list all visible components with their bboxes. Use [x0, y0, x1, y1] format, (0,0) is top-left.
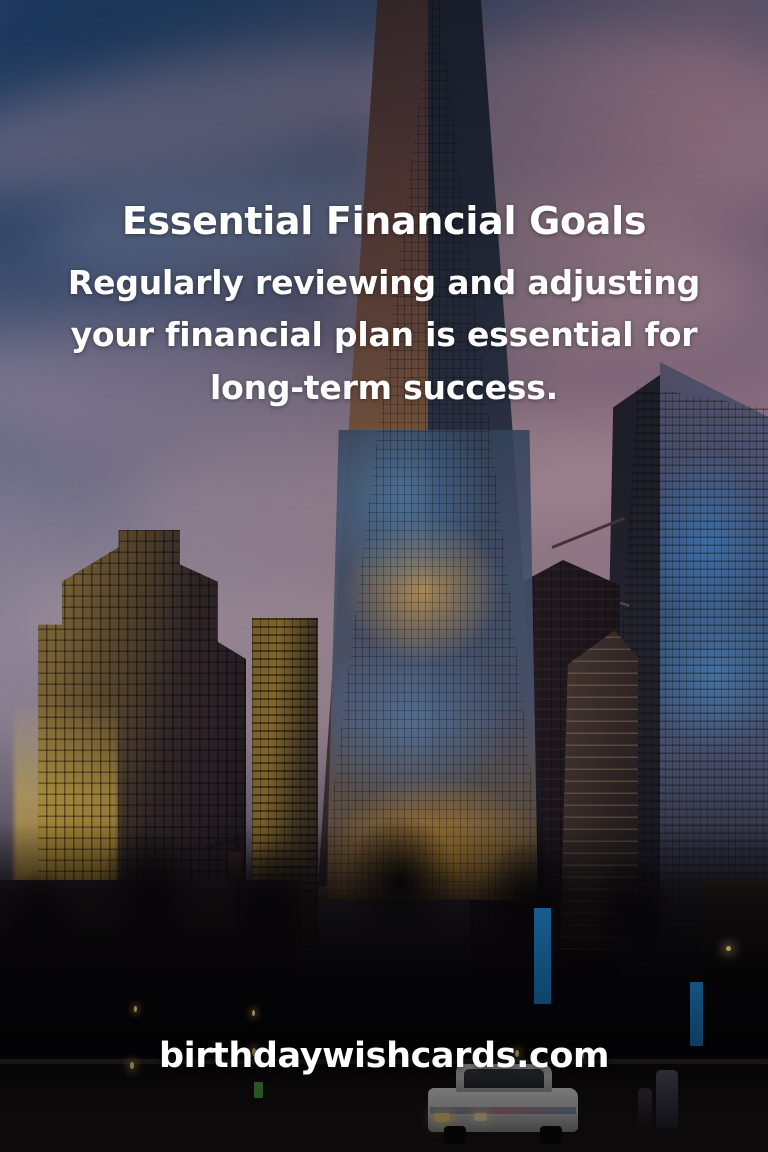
- page-title: Essential Financial Goals: [46, 200, 722, 243]
- street-light: [726, 946, 731, 951]
- pedestrian: [656, 1070, 678, 1128]
- street-light: [134, 1006, 137, 1012]
- text-overlay: Essential Financial Goals Regularly revi…: [0, 200, 768, 415]
- police-suv-wheel: [444, 1126, 466, 1144]
- police-suv-headlight: [434, 1113, 450, 1122]
- police-suv-wheel: [540, 1126, 562, 1144]
- police-suv-stripe: [430, 1107, 576, 1114]
- police-suv-headlight: [474, 1113, 487, 1121]
- street-light: [252, 1010, 255, 1016]
- social-card: Essential Financial Goals Regularly revi…: [0, 0, 768, 1152]
- green-signal-box: [254, 1082, 263, 1098]
- page-subtitle: Regularly reviewing and adjusting your f…: [46, 257, 722, 415]
- street-banner: [534, 908, 551, 1004]
- pedestrian: [638, 1088, 652, 1128]
- footer-website-url: birthdaywishcards.com: [0, 1036, 768, 1076]
